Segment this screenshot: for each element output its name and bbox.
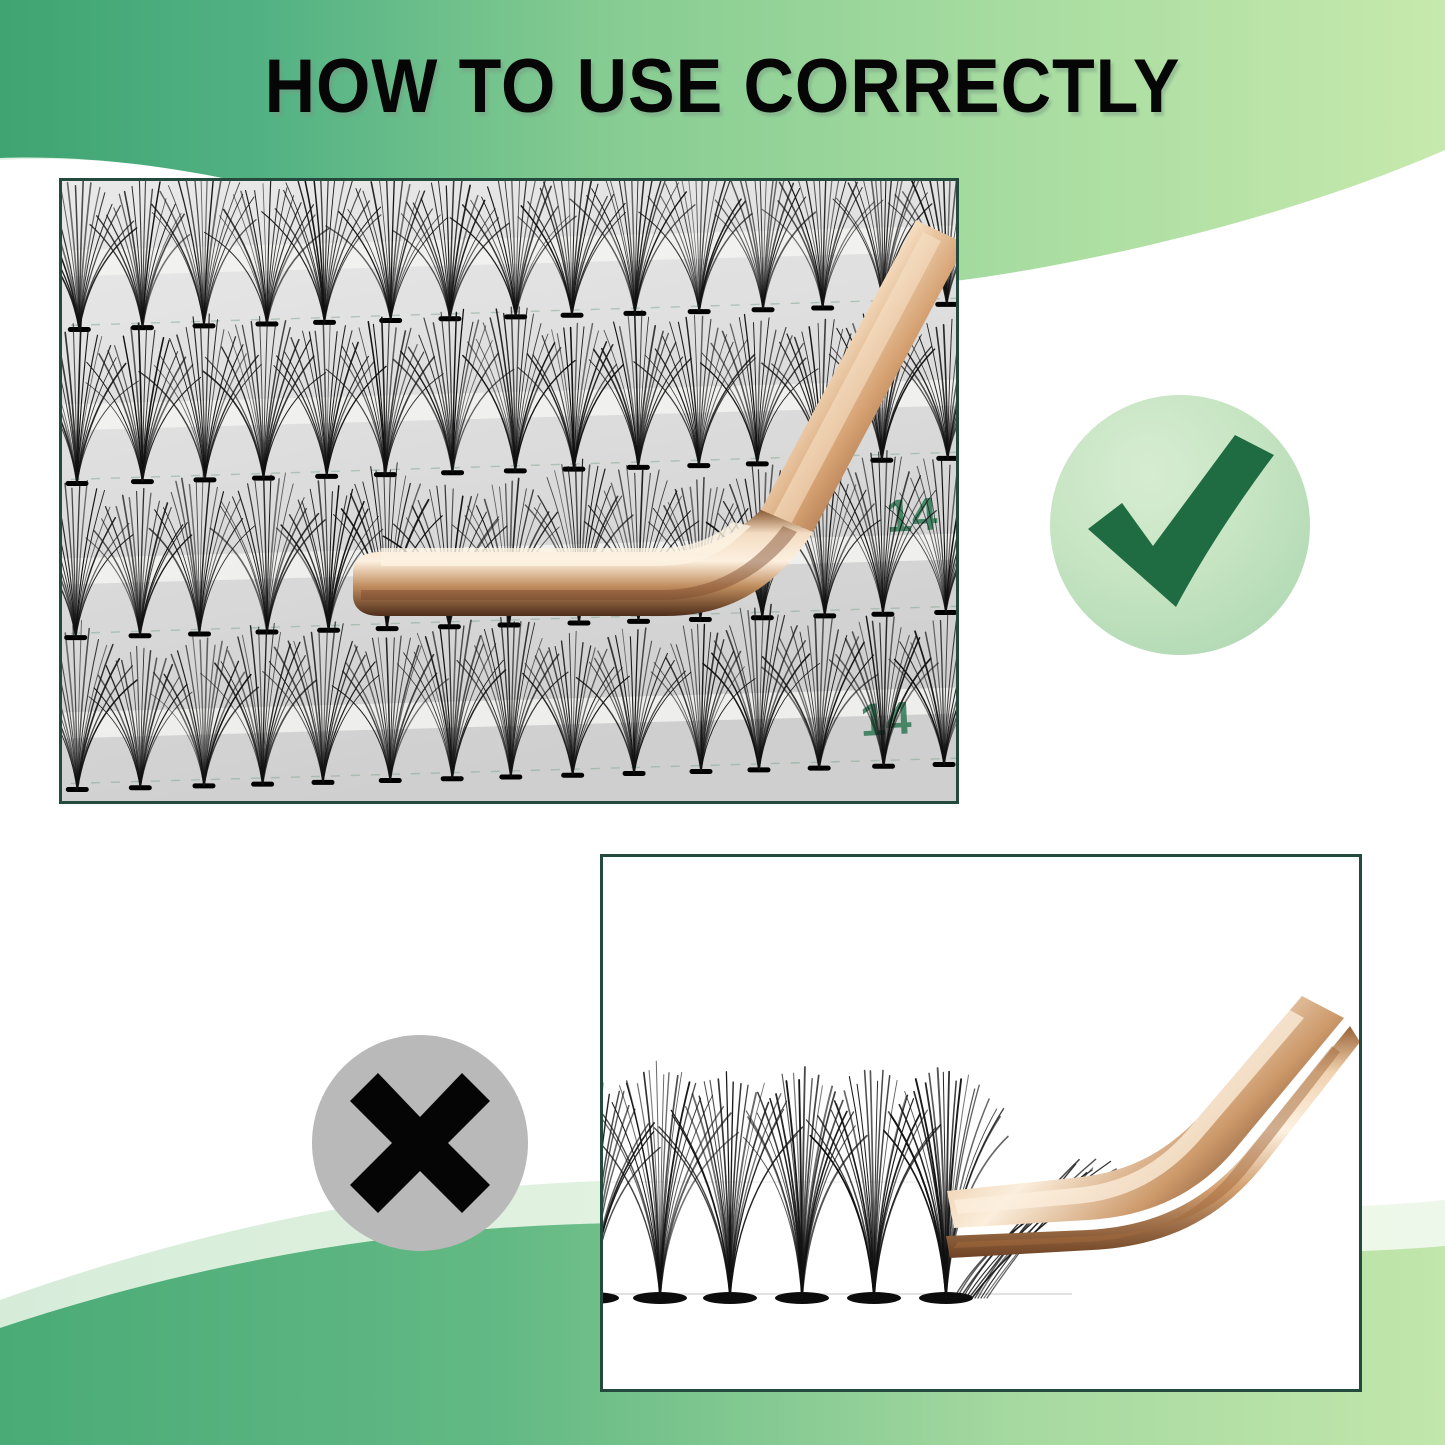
check-badge — [1050, 395, 1310, 655]
cross-badge — [312, 1035, 528, 1251]
correct-usage-photo: 14 14 — [59, 178, 959, 804]
check-icon — [1050, 395, 1310, 655]
incorrect-usage-photo-art — [602, 856, 1360, 1390]
promo-graphic-page: HOW TO USE CORRECTLY — [0, 0, 1445, 1445]
incorrect-usage-photo — [600, 854, 1362, 1392]
correct-usage-photo-art: 14 14 — [61, 180, 957, 802]
cross-icon — [312, 1035, 528, 1251]
page-title: HOW TO USE CORRECTLY — [58, 49, 1387, 125]
